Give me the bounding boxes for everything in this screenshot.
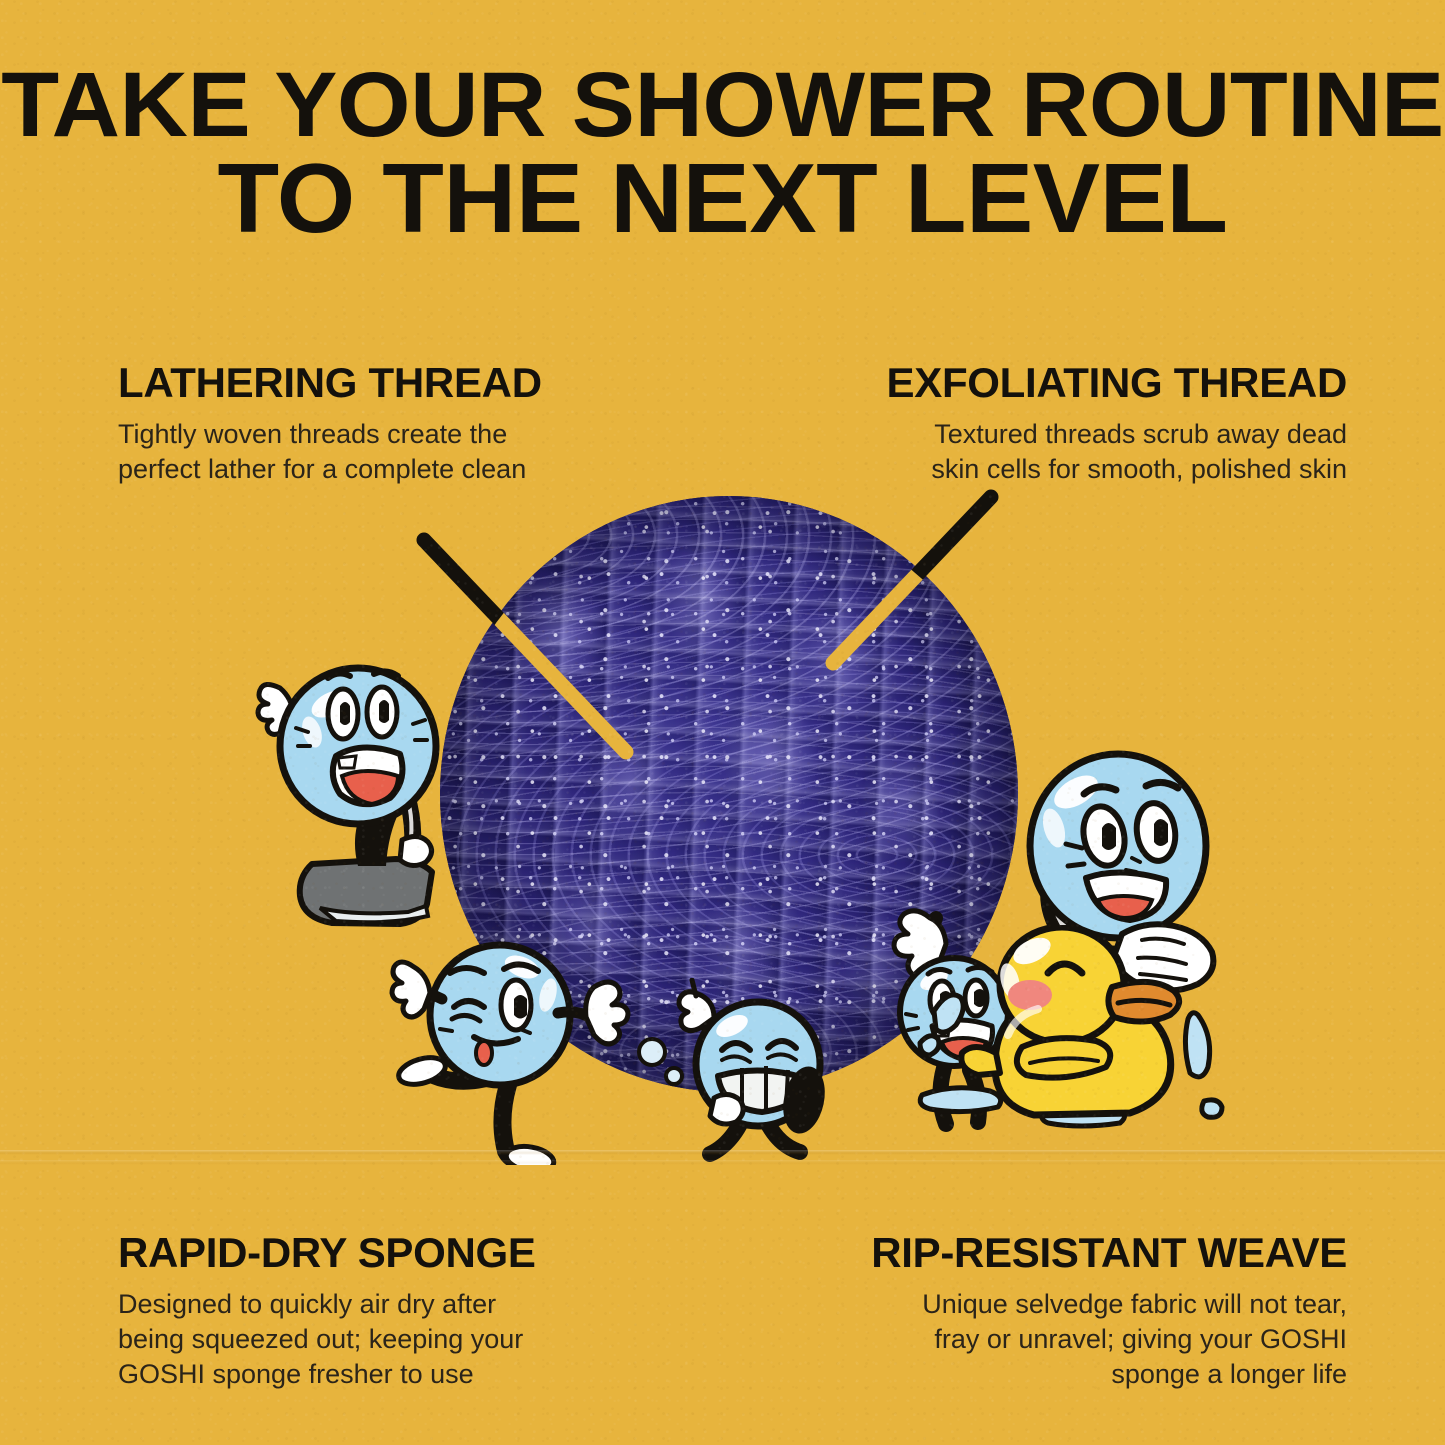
infographic-canvas: TAKE YOUR SHOWER ROUTINE TO THE NEXT LEV… <box>0 0 1445 1445</box>
feature-body-line: being squeezed out; keeping your <box>118 1324 523 1354</box>
character-bubble-waving <box>388 925 648 1165</box>
feature-title-rip-resistant-weave: RIP-RESISTANT WEAVE <box>871 1232 1347 1274</box>
feature-body-exfoliating-thread: Textured threads scrub away dead skin ce… <box>887 417 1347 487</box>
feature-body-rapid-dry-sponge: Designed to quickly air dry after being … <box>118 1287 536 1391</box>
feature-body-lathering-thread: Tightly woven threads create the perfect… <box>118 417 542 487</box>
feature-rapid-dry-sponge: RAPID-DRY SPONGE Designed to quickly air… <box>118 1232 536 1391</box>
character-bubble-grinning <box>618 978 853 1163</box>
feature-body-line: skin cells for smooth, polished skin <box>931 454 1347 484</box>
glove-left <box>392 962 430 1017</box>
page-title: TAKE YOUR SHOWER ROUTINE TO THE NEXT LEV… <box>0 64 1445 242</box>
feature-body-line: GOSHI sponge fresher to use <box>118 1359 474 1389</box>
feature-body-line: sponge a longer life <box>1111 1359 1347 1389</box>
feature-exfoliating-thread: EXFOLIATING THREAD Textured threads scru… <box>887 362 1347 487</box>
page-title-line-1: TAKE YOUR SHOWER ROUTINE <box>0 64 1445 147</box>
feature-rip-resistant-weave: RIP-RESISTANT WEAVE Unique selvedge fabr… <box>871 1232 1347 1391</box>
feature-body-line: perfect lather for a complete clean <box>118 454 526 484</box>
feature-body-line: Tightly woven threads create the <box>118 419 507 449</box>
feature-body-line: Textured threads scrub away dead <box>934 419 1347 449</box>
character-bubble-surfer <box>250 628 465 928</box>
feature-title-lathering-thread: LATHERING THREAD <box>118 362 542 404</box>
feature-lathering-thread: LATHERING THREAD Tightly woven threads c… <box>118 362 542 487</box>
feature-body-line: Unique selvedge fabric will not tear, <box>922 1289 1347 1319</box>
feature-body-line: Designed to quickly air dry after <box>118 1289 496 1319</box>
rubber-duck <box>912 925 1232 1140</box>
page-title-line-2: TO THE NEXT LEVEL <box>0 154 1445 242</box>
feature-body-rip-resistant-weave: Unique selvedge fabric will not tear, fr… <box>871 1287 1347 1391</box>
feature-title-rapid-dry-sponge: RAPID-DRY SPONGE <box>118 1232 536 1274</box>
feature-body-line: fray or unravel; giving your GOSHI <box>934 1324 1347 1354</box>
feature-title-exfoliating-thread: EXFOLIATING THREAD <box>887 362 1347 404</box>
